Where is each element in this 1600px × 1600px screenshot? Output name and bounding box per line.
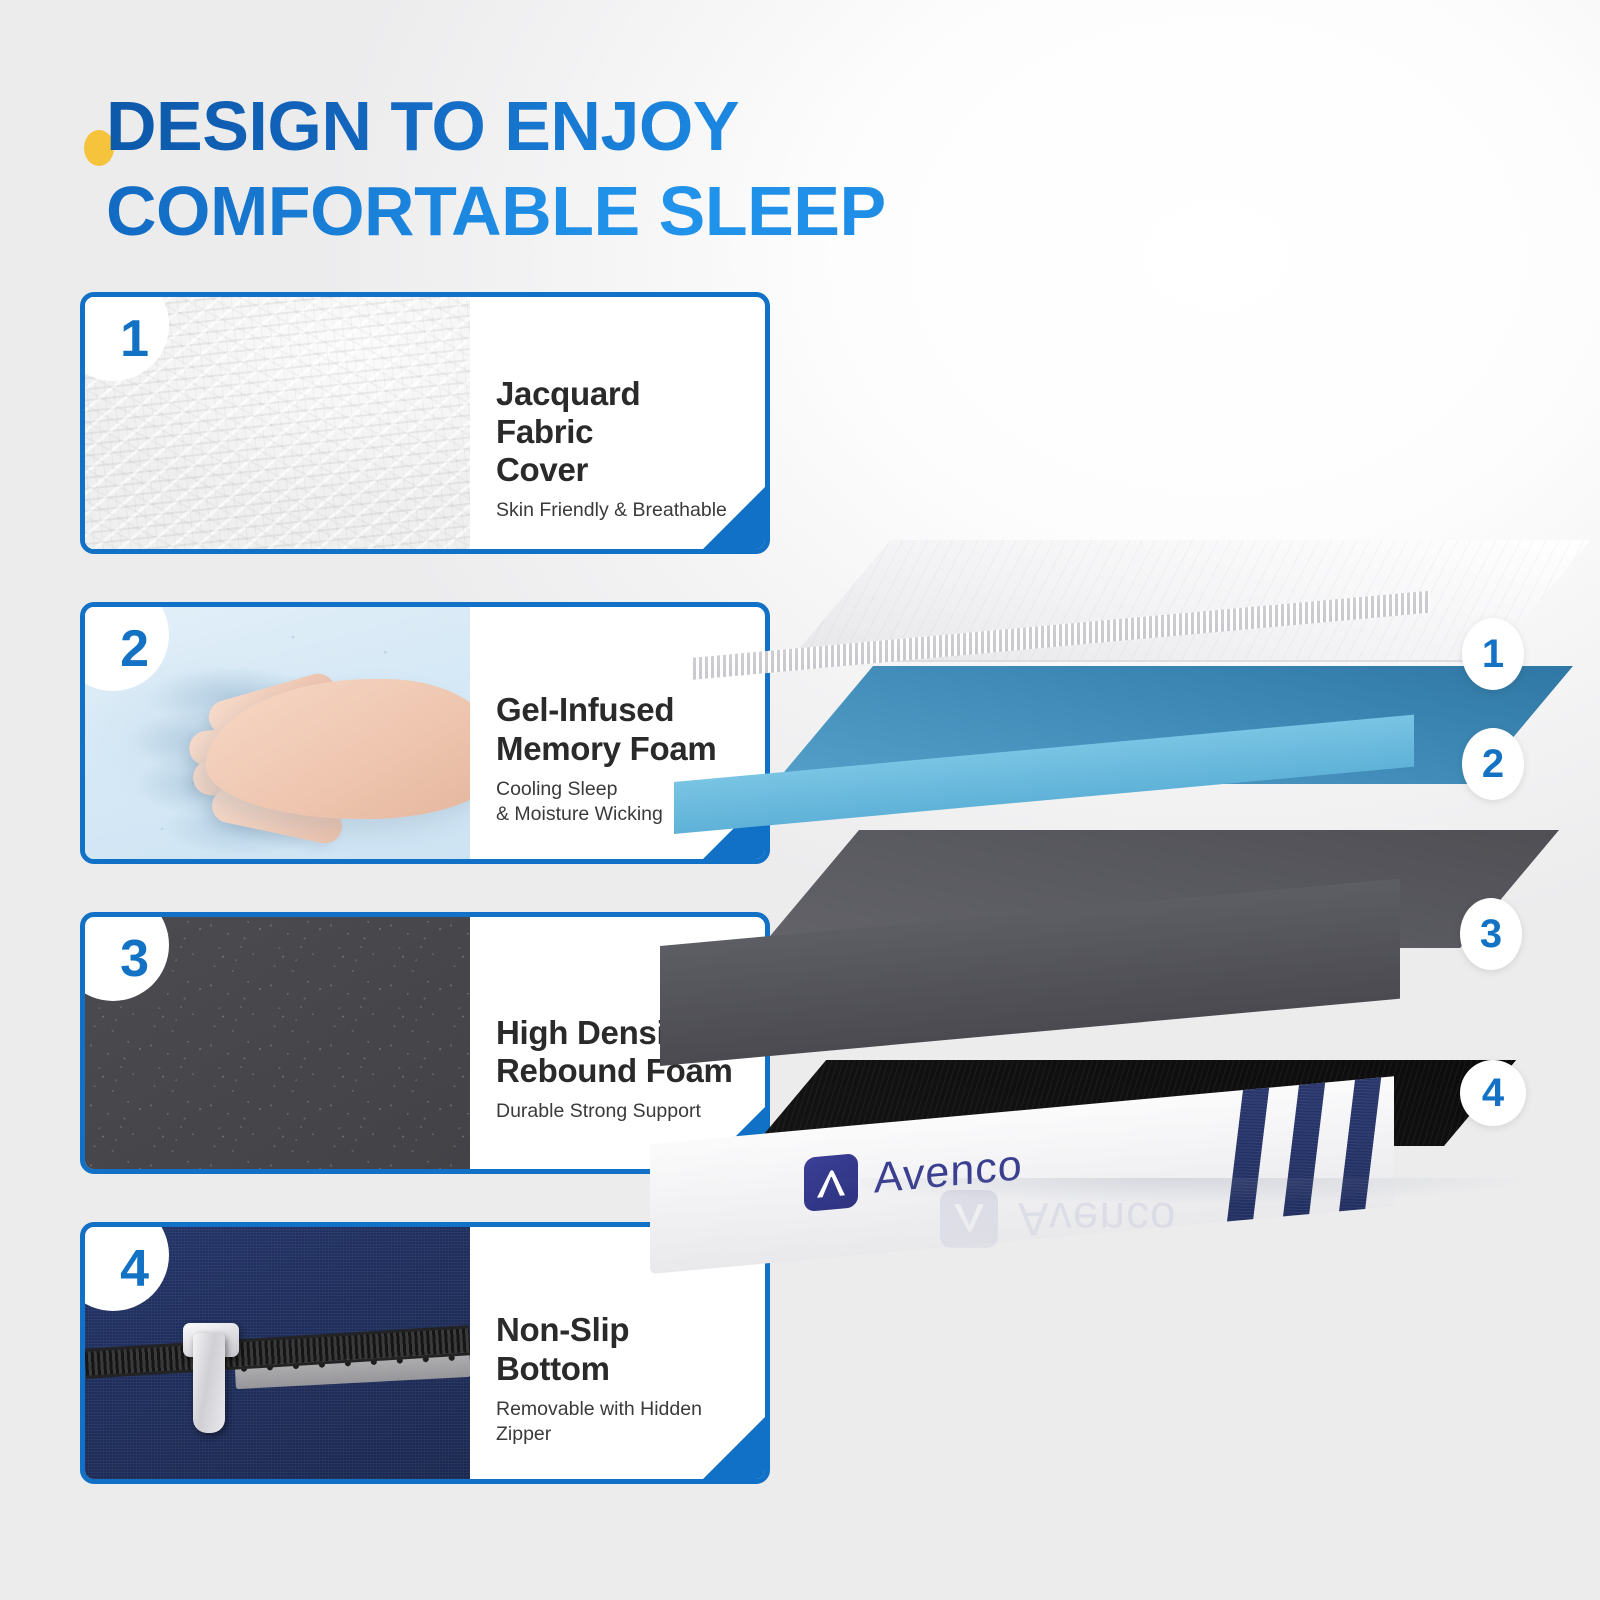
zipper-pull-tab-icon [193,1333,225,1433]
diagram-number: 2 [1482,744,1504,784]
diagram-number-badge-2: 2 [1462,728,1524,800]
avenco-mark-icon-reflection [940,1190,998,1248]
page-title: DESIGN TO ENJOY COMFORTABLE SLEEP [88,92,988,245]
card-title: Jacquard Fabric Cover [496,375,739,490]
corner-triangle-icon [703,1417,765,1479]
diagram-number-badge-1: 1 [1462,618,1524,690]
diagram-number: 3 [1480,914,1502,954]
exploded-mattress-diagram: Avenco 1 2 3 4 [760,520,1600,1280]
feature-card-gel-memory-foam[interactable]: Gel-Infused Memory Foam Cooling Sleep & … [80,602,770,864]
card-number: 3 [120,933,149,985]
feature-card-jacquard-cover[interactable]: Jacquard Fabric Cover Skin Friendly & Br… [80,292,770,554]
card-title: Gel-Infused Memory Foam [496,691,739,768]
headline-line-2: COMFORTABLE SLEEP [88,177,988,246]
corner-triangle-icon [703,487,765,549]
headline-line-1: DESIGN TO ENJOY [88,92,988,161]
card-number: 2 [120,623,149,675]
card-number: 4 [120,1243,149,1295]
card-title: Non-Slip Bottom [496,1311,739,1388]
diagram-number: 1 [1482,634,1504,674]
diagram-number: 4 [1482,1073,1504,1113]
diagram-number-badge-4: 4 [1460,1060,1526,1126]
card-number: 1 [120,313,149,365]
diagram-number-badge-3: 3 [1460,898,1522,970]
logo-reflection: Avenco [790,1190,1550,1370]
avenco-wordmark-reflection: Avenco [1018,1192,1177,1246]
